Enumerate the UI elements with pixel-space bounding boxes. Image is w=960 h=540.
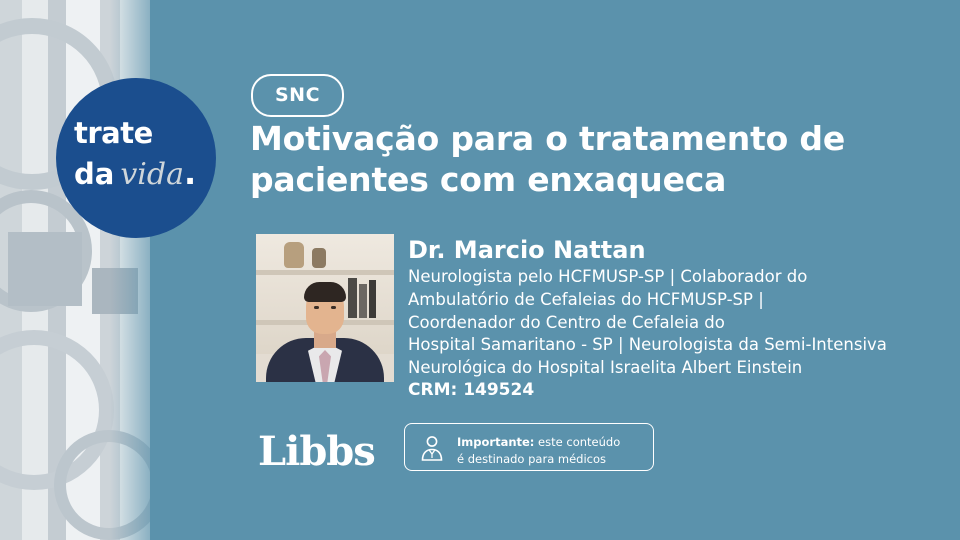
speaker-credentials-line: Hospital Samaritano - SP | Neurologista … — [408, 334, 953, 357]
photo-book-icon — [369, 280, 376, 318]
speaker-credentials: Neurologista pelo HCFMUSP-SP | Colaborad… — [408, 266, 953, 380]
audience-notice-text: Importante: este conteúdo é destinado pa… — [457, 434, 647, 467]
slide-title-line1: Motivação para o tratamento de — [250, 118, 870, 159]
brand-badge: trate davida. — [56, 78, 216, 238]
speaker-credentials-line: Ambulatório de Cefaleias do HCFMUSP-SP | — [408, 289, 953, 312]
brand-line1: trate — [74, 116, 153, 150]
doctor-icon — [417, 433, 447, 463]
photo-person-eye — [314, 306, 319, 309]
photo-book-icon — [348, 278, 357, 318]
sponsor-logo: Libbs — [258, 428, 375, 475]
brand-line2: davida. — [74, 154, 196, 192]
decorative-square — [8, 232, 82, 306]
slide-title-line2: pacientes com enxaqueca — [250, 159, 870, 200]
audience-notice-line1: Importante: este conteúdo — [457, 434, 647, 451]
speaker-credentials-line: Coordenador do Centro de Cefaleia do — [408, 312, 953, 335]
photo-person-hair — [304, 282, 346, 302]
audience-notice-line2: é destinado para médicos — [457, 451, 647, 468]
video-slide: trate davida. SNC Motivação para o trata… — [0, 0, 960, 540]
photo-vase-icon — [312, 248, 326, 268]
audience-notice-bold: Importante: — [457, 435, 534, 449]
speaker-credentials-line: Neurologista pelo HCFMUSP-SP | Colaborad… — [408, 266, 953, 289]
photo-book-icon — [359, 284, 367, 318]
speaker-crm: CRM: 149524 — [408, 380, 534, 400]
brand-line2-script: vida — [120, 157, 184, 192]
brand-line2-prefix: da — [74, 157, 114, 191]
photo-vase-icon — [284, 242, 304, 268]
photo-shelf — [256, 270, 394, 275]
slide-title: Motivação para o tratamento de pacientes… — [250, 118, 870, 201]
speaker-credentials-line: Neurológica do Hospital Israelita Albert… — [408, 357, 953, 380]
audience-notice: Importante: este conteúdo é destinado pa… — [404, 423, 654, 471]
category-tag: SNC — [251, 74, 344, 117]
speaker-photo — [256, 234, 394, 382]
brand-line2-dot: . — [184, 154, 196, 192]
audience-notice-rest: este conteúdo — [534, 435, 620, 449]
photo-person-eye — [331, 306, 336, 309]
speaker-name: Dr. Marcio Nattan — [408, 236, 646, 264]
